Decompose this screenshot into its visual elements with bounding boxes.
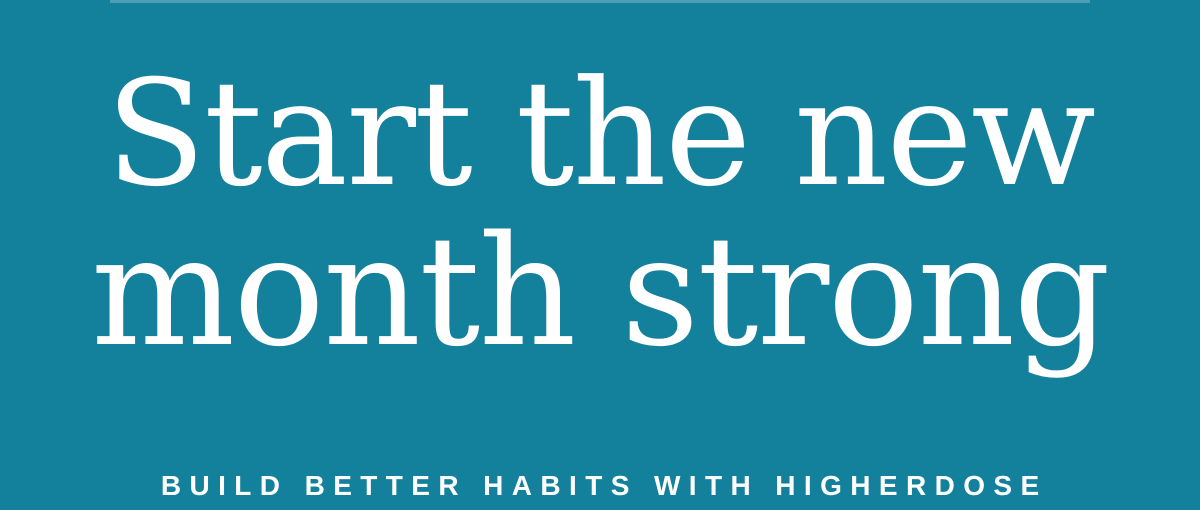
headline-line-1: Start the new [0, 62, 1200, 207]
promo-banner: Start the new month strong BUILD BETTER … [0, 0, 1200, 510]
headline-line-2: month strong [0, 217, 1200, 367]
subheadline: BUILD BETTER HABITS WITH HIGHERDOSE [0, 472, 1200, 500]
headline: Start the new month strong [0, 0, 1200, 367]
banner-content: Start the new month strong [0, 0, 1200, 510]
